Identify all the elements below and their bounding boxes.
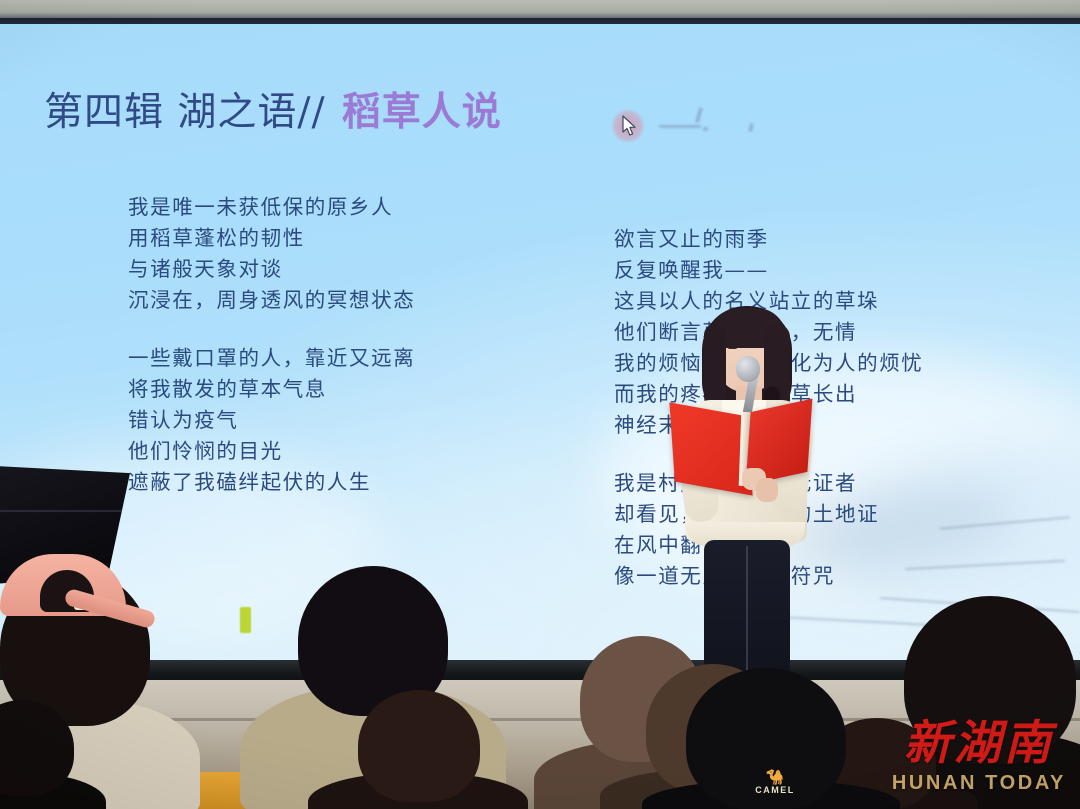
poem-line: 遮蔽了我磕绊起伏的人生 <box>128 467 415 498</box>
speaker-figure <box>660 300 840 690</box>
audience-member <box>300 690 530 809</box>
speaker-hand-right <box>756 478 778 502</box>
poem-line: 反复唤醒我—— <box>614 255 923 286</box>
poem-line: 错认为疫气 <box>128 405 415 436</box>
poem-line: 沉浸在，周身透风的冥想状态 <box>128 285 415 316</box>
photo-scene: 第四辑 湖之语//稻草人说 我是唯一未获低保的原乡人 用稻草蓬松的韧性 与诸般天… <box>0 0 1080 809</box>
poem-stanza: 我是唯一未获低保的原乡人 用稻草蓬松的韧性 与诸般天象对谈 沉浸在，周身透风的冥… <box>128 192 415 316</box>
slide-artifact-4 <box>748 123 754 133</box>
poem-line: 与诸般天象对谈 <box>128 254 415 285</box>
slide-title: 第四辑 湖之语//稻草人说 <box>44 90 502 136</box>
watermark-chinese: 新湖南 <box>892 717 1066 771</box>
slide-streak-1 <box>940 516 1070 529</box>
camel-brand-text: CAMEL <box>744 785 806 796</box>
highlight-marker <box>240 607 251 633</box>
presenter-pointer[interactable] <box>611 109 645 143</box>
poem-line: 他们怜悯的目光 <box>128 436 415 467</box>
slide-streak-2 <box>905 560 1065 570</box>
watermark-english: HUNAN TODAY <box>892 771 1066 795</box>
slide-artifact-1 <box>659 125 701 128</box>
poem-line: 将我散发的草本气息 <box>128 374 415 405</box>
camel-brand-logo: 🐪 CAMEL <box>744 770 806 800</box>
poem-stanza: 一些戴口罩的人，靠近又远离 将我散发的草本气息 错认为疫气 他们怜悯的目光 遮蔽… <box>128 343 415 498</box>
poem-column-left: 我是唯一未获低保的原乡人 用稻草蓬松的韧性 与诸般天象对谈 沉浸在，周身透风的冥… <box>128 192 415 498</box>
slide-title-main: 第四辑 湖之语// <box>44 90 326 135</box>
poem-line: 一些戴口罩的人，靠近又远离 <box>128 343 415 374</box>
slide-artifact-2 <box>695 107 703 123</box>
camel-icon: 🐪 <box>744 770 806 785</box>
watermark-logo: 新湖南 HUNAN TODAY <box>892 717 1066 795</box>
microphone-icon <box>736 356 760 382</box>
lectern-edge <box>0 510 122 512</box>
mouse-cursor-icon <box>622 115 638 137</box>
poem-line: 用稻草蓬松的韧性 <box>128 223 415 254</box>
slide-artifact-3 <box>703 127 708 131</box>
audience-member-camel-cap: 🐪 CAMEL <box>648 668 888 809</box>
poem-line: 欲言又止的雨季 <box>614 224 923 255</box>
slide-title-accent: 稻草人说 <box>342 89 502 135</box>
speaker-hair-side-left <box>704 324 726 408</box>
audience-member <box>0 700 100 809</box>
poem-line: 我是唯一未获低保的原乡人 <box>128 192 415 223</box>
